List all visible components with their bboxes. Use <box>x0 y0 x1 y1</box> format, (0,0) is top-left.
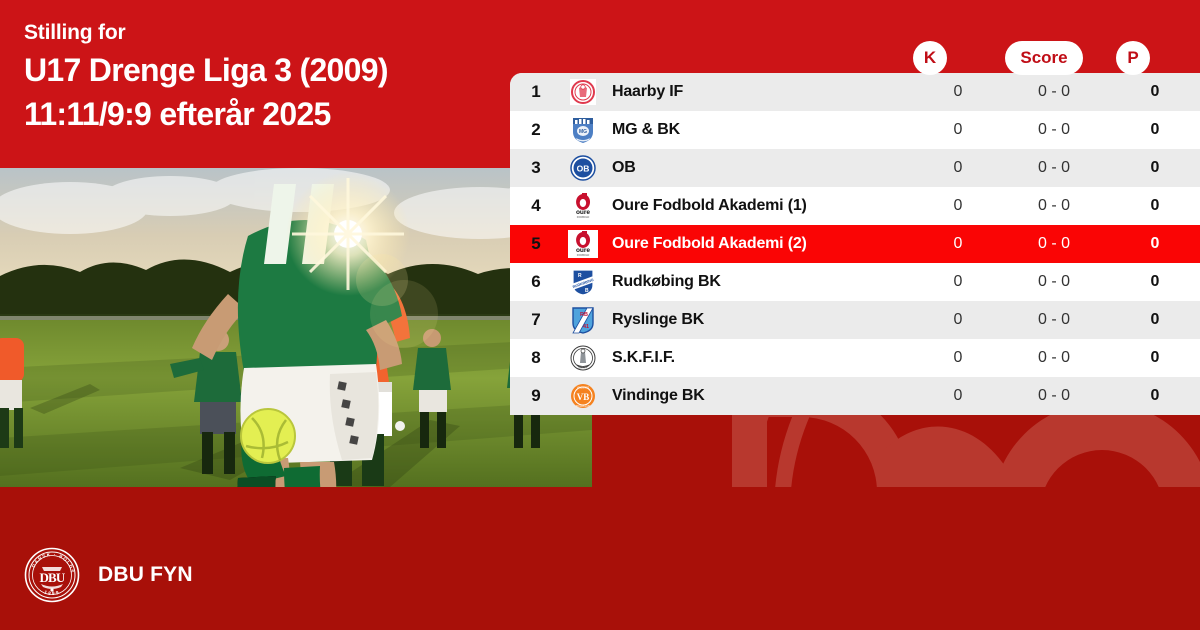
team-label: OB <box>612 159 636 176</box>
team-label: Ryslinge BK <box>612 311 704 328</box>
ryslinge-bk-logo: RB 41 <box>562 306 604 334</box>
row-score: 0 - 0 <box>998 121 1110 139</box>
row-score: 0 - 0 <box>998 311 1110 329</box>
table-row[interactable]: 7 RB 41 Ryslinge BK 0 0 - 0 0 <box>510 301 1200 339</box>
row-rank: 4 <box>510 196 562 216</box>
row-team-name: Rudkøbing BK <box>604 273 918 291</box>
svg-text:41: 41 <box>583 324 589 330</box>
rudkobing-bk-logo: R B RUDKØBING <box>562 268 604 296</box>
headline-block: Stilling for U17 Drenge Liga 3 (2009) 11… <box>24 20 494 134</box>
row-p: 0 <box>1110 235 1200 253</box>
table-row[interactable]: 1 Haarby IF 0 0 - 0 0 <box>510 73 1200 111</box>
row-team-name: OB <box>604 159 918 177</box>
column-header-k: K <box>913 41 947 75</box>
row-k: 0 <box>918 273 998 291</box>
svg-text:FODBOLD: FODBOLD <box>577 253 590 257</box>
table-row[interactable]: 2 MG MG & BK 0 0 - 0 0 <box>510 111 1200 149</box>
row-k: 0 <box>918 235 998 253</box>
row-k: 0 <box>918 83 998 101</box>
table-row[interactable]: 8 S.K.F.I.F. S.K.F.I.F. 0 0 - 0 0 <box>510 339 1200 377</box>
row-rank: 9 <box>510 386 562 406</box>
svg-text:FODBOLD: FODBOLD <box>577 215 590 219</box>
footer: DANSK · BOLDSPIL · UNION 1889 DBU DBU FY… <box>24 545 193 605</box>
row-team-name: Oure Fodbold Akademi (2) <box>604 235 918 253</box>
vindinge-bk-logo: VB VINDINGE BOLDKLUB <box>562 383 604 409</box>
team-suffix: (2) <box>788 235 807 252</box>
row-p: 0 <box>1110 273 1200 291</box>
svg-text:MG: MG <box>579 129 587 135</box>
svg-text:VB: VB <box>577 392 590 402</box>
row-rank: 5 <box>510 234 562 254</box>
svg-text:BOLDKLUB: BOLDKLUB <box>576 404 590 408</box>
column-header-p: P <box>1116 41 1150 75</box>
dbu-watermark-band <box>592 412 1200 487</box>
row-score: 0 - 0 <box>998 235 1110 253</box>
column-header-score: Score <box>1005 41 1083 75</box>
table-row[interactable]: 3 OB OB 0 0 - 0 0 <box>510 149 1200 187</box>
haarby-if-logo <box>562 79 604 105</box>
row-k: 0 <box>918 387 998 405</box>
row-k: 0 <box>918 349 998 367</box>
team-label: S.K.F.I.F. <box>612 349 675 366</box>
team-suffix: (1) <box>788 197 807 214</box>
row-p: 0 <box>1110 121 1200 139</box>
team-label: Oure Fodbold Akademi <box>612 235 783 252</box>
row-score: 0 - 0 <box>998 159 1110 177</box>
svg-text:OB: OB <box>577 164 590 174</box>
row-rank: 3 <box>510 158 562 178</box>
headline-title-line-2: 11:11/9:9 efterår 2025 <box>24 94 494 134</box>
row-k: 0 <box>918 311 998 329</box>
row-k: 0 <box>918 159 998 177</box>
table-row[interactable]: 9 VB VINDINGE BOLDKLUB Vindinge BK 0 0 -… <box>510 377 1200 415</box>
skfif-logo: S.K.F.I.F. <box>562 345 604 371</box>
table-row[interactable]: 6 R B RUDKØBING Rudkøbing BK 0 0 - 0 0 <box>510 263 1200 301</box>
row-team-name: MG & BK <box>604 121 918 139</box>
brand-name: DBU FYN <box>98 563 193 587</box>
svg-text:oure: oure <box>576 247 590 254</box>
row-p: 0 <box>1110 311 1200 329</box>
table-column-headers: K Score P <box>510 41 1200 75</box>
row-k: 0 <box>918 197 998 215</box>
row-team-name: Vindinge BK <box>604 387 918 405</box>
row-team-name: Ryslinge BK <box>604 311 918 329</box>
team-label: Oure Fodbold Akademi <box>612 197 783 214</box>
oure-logo: oure FODBOLD <box>562 230 604 258</box>
row-rank: 8 <box>510 348 562 368</box>
row-rank: 7 <box>510 310 562 330</box>
team-label: Haarby IF <box>612 83 683 100</box>
team-label: Rudkøbing BK <box>612 273 721 290</box>
row-team-name: Oure Fodbold Akademi (1) <box>604 197 918 215</box>
team-label: Vindinge BK <box>612 387 705 404</box>
dbu-crest-icon: DANSK · BOLDSPIL · UNION 1889 DBU <box>24 547 80 603</box>
svg-text:B: B <box>585 288 589 294</box>
headline-kicker: Stilling for <box>24 20 494 46</box>
row-rank: 1 <box>510 82 562 102</box>
row-score: 0 - 0 <box>998 273 1110 291</box>
team-label: MG & BK <box>612 121 680 138</box>
svg-text:R: R <box>578 273 582 279</box>
row-p: 0 <box>1110 83 1200 101</box>
row-p: 0 <box>1110 349 1200 367</box>
row-score: 0 - 0 <box>998 83 1110 101</box>
svg-text:oure: oure <box>576 209 590 216</box>
row-team-name: S.K.F.I.F. <box>604 349 918 367</box>
row-rank: 6 <box>510 272 562 292</box>
mg-bk-logo: MG <box>562 116 604 144</box>
oure-logo: oure FODBOLD <box>562 192 604 220</box>
row-team-name: Haarby IF <box>604 83 918 101</box>
row-rank: 2 <box>510 120 562 140</box>
football-match-photo <box>0 168 592 487</box>
ob-logo: OB <box>562 155 604 181</box>
row-k: 0 <box>918 121 998 139</box>
table-row-highlighted[interactable]: 5 oure FODBOLD Oure Fodbold Akademi (2) … <box>510 225 1200 263</box>
svg-text:RB: RB <box>580 312 588 318</box>
svg-text:VINDINGE: VINDINGE <box>577 386 590 390</box>
standings-table: 1 Haarby IF 0 0 - 0 0 2 <box>510 73 1200 415</box>
row-p: 0 <box>1110 197 1200 215</box>
svg-text:DBU: DBU <box>39 570 65 585</box>
headline-title-line-1: U17 Drenge Liga 3 (2009) <box>24 50 494 90</box>
svg-text:S.K.F.I.F.: S.K.F.I.F. <box>578 367 588 370</box>
row-p: 0 <box>1110 159 1200 177</box>
row-score: 0 - 0 <box>998 197 1110 215</box>
row-p: 0 <box>1110 387 1200 405</box>
row-score: 0 - 0 <box>998 349 1110 367</box>
row-score: 0 - 0 <box>998 387 1110 405</box>
table-row[interactable]: 4 oure FODBOLD Oure Fodbold Akademi (1) … <box>510 187 1200 225</box>
